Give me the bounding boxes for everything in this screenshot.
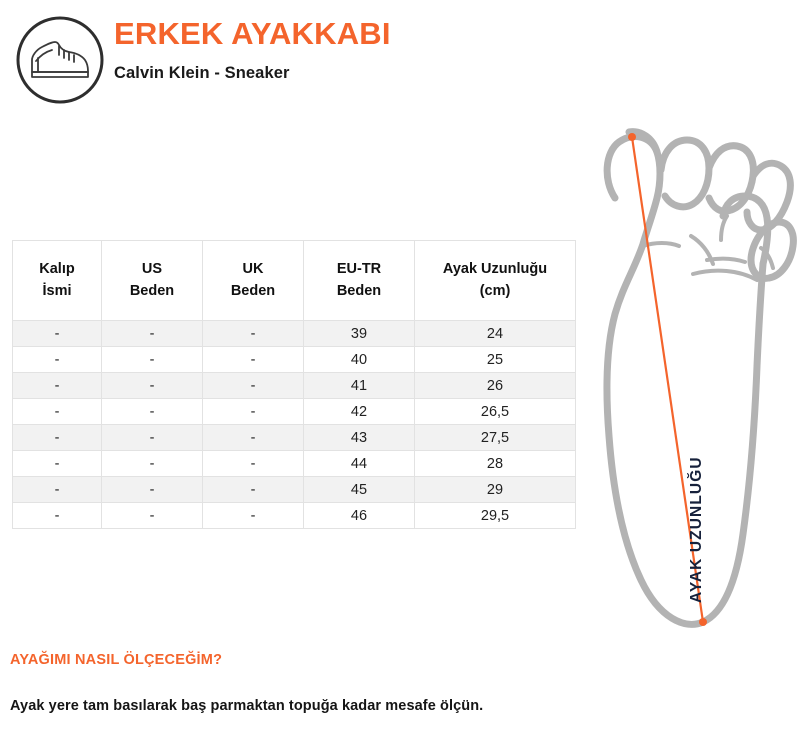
cell-kalip-ismi: - xyxy=(13,321,102,347)
cell-us-beden: - xyxy=(102,477,203,503)
column-header-line2: İsmi xyxy=(13,281,101,302)
cell-ayak-uzunlugu: 29,5 xyxy=(415,503,576,529)
cell-kalip-ismi: - xyxy=(13,503,102,529)
column-header-line2: Beden xyxy=(304,281,414,302)
cell-uk-beden: - xyxy=(203,425,304,451)
table-header: Kalıp İsmi US Beden UK Beden EU-TR Beden… xyxy=(13,241,576,321)
column-header-line1: EU-TR xyxy=(304,259,414,280)
column-header-uk-beden: UK Beden xyxy=(203,241,304,321)
table-header-row: Kalıp İsmi US Beden UK Beden EU-TR Beden… xyxy=(13,241,576,321)
column-header-line2: Beden xyxy=(102,281,202,302)
cell-eu-tr-beden: 42 xyxy=(304,399,415,425)
column-header-line2: Beden xyxy=(203,281,303,302)
cell-ayak-uzunlugu: 29 xyxy=(415,477,576,503)
foot-length-label: AYAK UZUNLUĞU xyxy=(688,430,718,630)
measure-point-toe xyxy=(628,133,636,141)
header: ERKEK AYAKKABI Calvin Klein - Sneaker xyxy=(0,0,800,110)
cell-kalip-ismi: - xyxy=(13,425,102,451)
cell-us-beden: - xyxy=(102,503,203,529)
cell-uk-beden: - xyxy=(203,503,304,529)
cell-ayak-uzunlugu: 26,5 xyxy=(415,399,576,425)
cell-ayak-uzunlugu: 25 xyxy=(415,347,576,373)
cell-us-beden: - xyxy=(102,321,203,347)
column-header-us-beden: US Beden xyxy=(102,241,203,321)
page-subtitle: Calvin Klein - Sneaker xyxy=(114,64,714,83)
cell-kalip-ismi: - xyxy=(13,477,102,503)
cell-eu-tr-beden: 40 xyxy=(304,347,415,373)
how-to-measure-heading: AYAĞIMI NASIL ÖLÇECEĞİM? xyxy=(10,652,222,668)
column-header-ayak-uzunlugu: Ayak Uzunluğu (cm) xyxy=(415,241,576,321)
table-row: ---4529 xyxy=(13,477,576,503)
cell-uk-beden: - xyxy=(203,477,304,503)
cell-uk-beden: - xyxy=(203,321,304,347)
column-header-line1: Kalıp xyxy=(13,259,101,280)
cell-us-beden: - xyxy=(102,399,203,425)
table-row: ---3924 xyxy=(13,321,576,347)
cell-kalip-ismi: - xyxy=(13,451,102,477)
cell-ayak-uzunlugu: 27,5 xyxy=(415,425,576,451)
column-header-kalip-ismi: Kalıp İsmi xyxy=(13,241,102,321)
cell-uk-beden: - xyxy=(203,373,304,399)
size-chart-table: Kalıp İsmi US Beden UK Beden EU-TR Beden… xyxy=(12,240,576,529)
page-title: ERKEK AYAKKABI xyxy=(114,16,714,52)
sneaker-icon xyxy=(14,14,106,106)
cell-ayak-uzunlugu: 26 xyxy=(415,373,576,399)
size-table-container: Kalıp İsmi US Beden UK Beden EU-TR Beden… xyxy=(12,240,570,529)
table-row: ---4428 xyxy=(13,451,576,477)
table-row: ---4327,5 xyxy=(13,425,576,451)
column-header-line1: US xyxy=(102,259,202,280)
cell-uk-beden: - xyxy=(203,347,304,373)
cell-uk-beden: - xyxy=(203,451,304,477)
cell-uk-beden: - xyxy=(203,399,304,425)
how-to-measure-text: Ayak yere tam basılarak baş parmaktan to… xyxy=(10,698,483,714)
cell-eu-tr-beden: 45 xyxy=(304,477,415,503)
table-row: ---4025 xyxy=(13,347,576,373)
cell-kalip-ismi: - xyxy=(13,399,102,425)
column-header-eu-tr-beden: EU-TR Beden xyxy=(304,241,415,321)
title-block: ERKEK AYAKKABI Calvin Klein - Sneaker xyxy=(114,16,714,83)
table-body: ---3924---4025---4126---4226,5---4327,5-… xyxy=(13,321,576,529)
cell-eu-tr-beden: 44 xyxy=(304,451,415,477)
cell-ayak-uzunlugu: 24 xyxy=(415,321,576,347)
cell-eu-tr-beden: 41 xyxy=(304,373,415,399)
cell-eu-tr-beden: 46 xyxy=(304,503,415,529)
cell-us-beden: - xyxy=(102,451,203,477)
cell-kalip-ismi: - xyxy=(13,347,102,373)
table-row: ---4629,5 xyxy=(13,503,576,529)
table-row: ---4126 xyxy=(13,373,576,399)
cell-eu-tr-beden: 39 xyxy=(304,321,415,347)
cell-eu-tr-beden: 43 xyxy=(304,425,415,451)
column-header-line1: Ayak Uzunluğu xyxy=(415,259,575,280)
column-header-line1: UK xyxy=(203,259,303,280)
cell-us-beden: - xyxy=(102,425,203,451)
cell-kalip-ismi: - xyxy=(13,373,102,399)
cell-ayak-uzunlugu: 28 xyxy=(415,451,576,477)
cell-us-beden: - xyxy=(102,347,203,373)
column-header-line2: (cm) xyxy=(415,281,575,302)
table-row: ---4226,5 xyxy=(13,399,576,425)
cell-us-beden: - xyxy=(102,373,203,399)
